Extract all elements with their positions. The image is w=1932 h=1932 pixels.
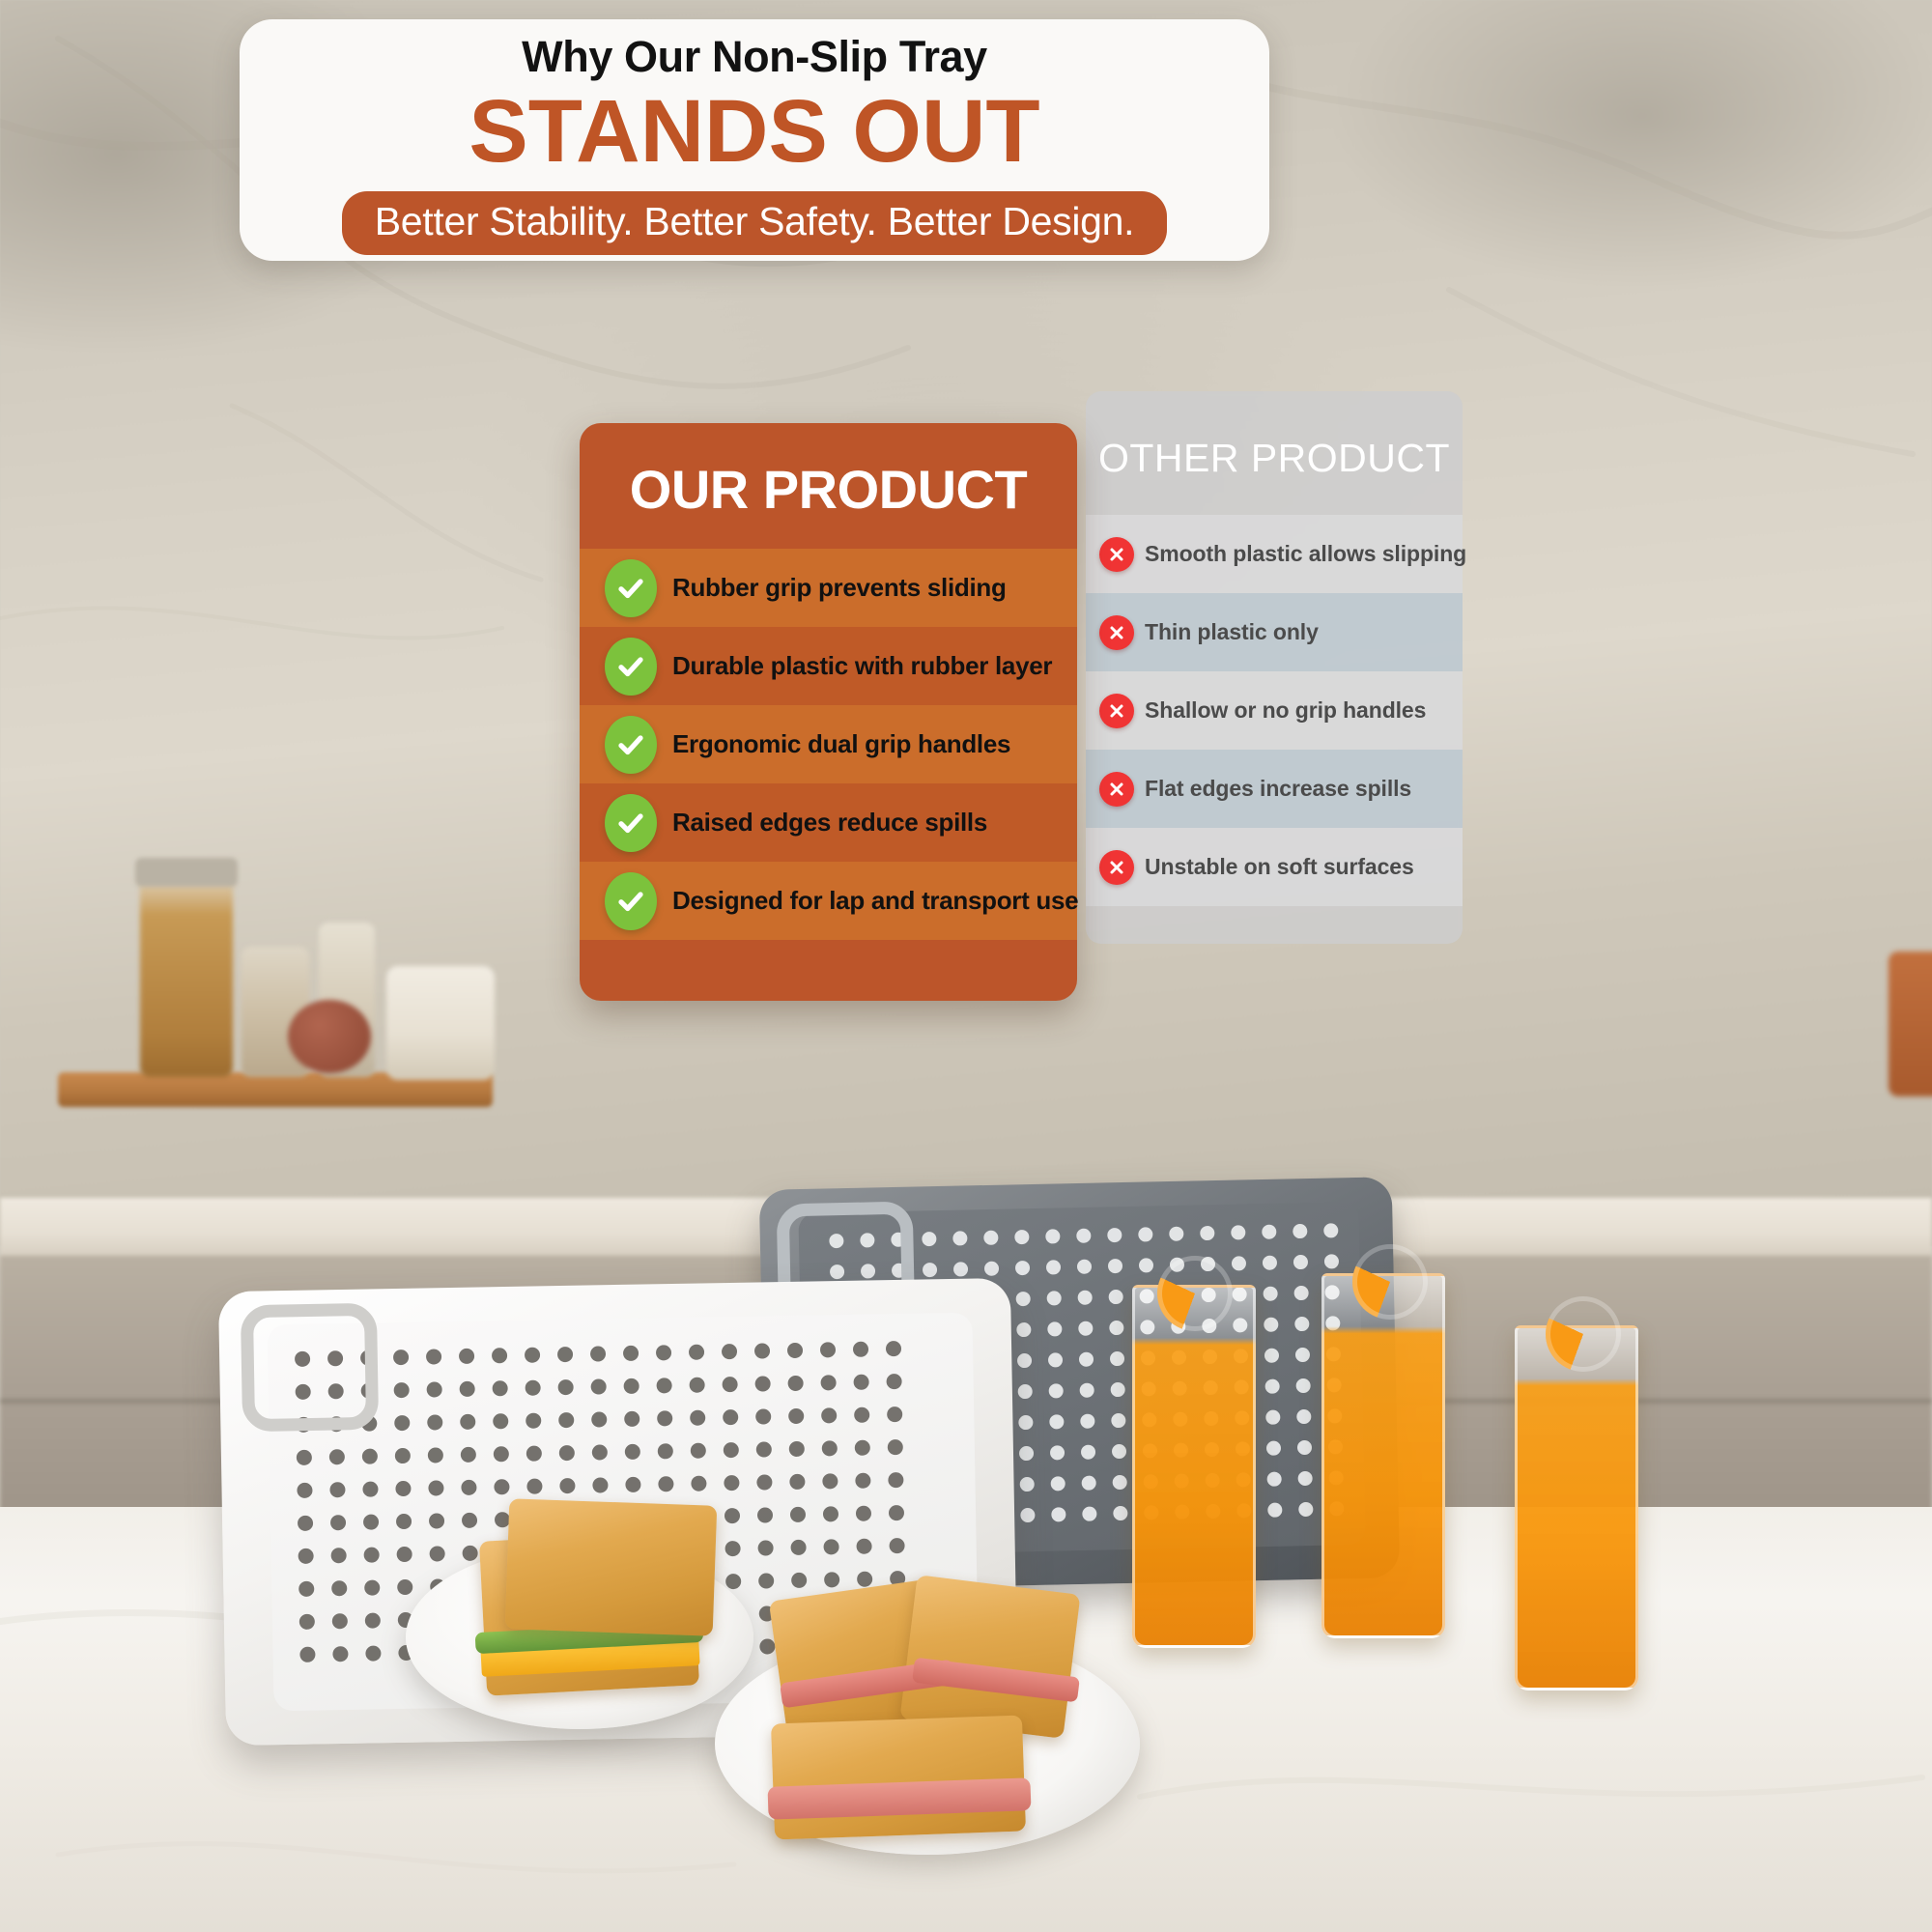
spice-jar [140,869,233,1077]
our-product-feature-row: Raised edges reduce spills [580,783,1077,862]
other-product-feature-label: Smooth plastic allows slipping [1145,541,1466,567]
our-product-feature-list: Rubber grip prevents slidingDurable plas… [580,549,1077,940]
orange-slice-garnish [1157,1256,1233,1331]
our-product-feature-row: Durable plastic with rubber layer [580,627,1077,705]
other-product-card: OTHER PRODUCT Smooth plastic allows slip… [1086,391,1463,944]
check-circle-icon [605,638,657,696]
x-circle-icon [1099,772,1134,807]
other-product-feature-row: Thin plastic only [1086,593,1463,671]
other-product-feature-label: Shallow or no grip handles [1145,697,1426,724]
other-product-feature-label: Flat edges increase spills [1145,776,1411,802]
orange-slice-garnish [1546,1296,1621,1372]
toast-sandwich [771,1715,1026,1839]
x-circle-icon [1099,537,1134,572]
orange-juice-glass [1132,1285,1256,1648]
orange-juice-glass [1515,1325,1638,1690]
other-product-feature-row: Smooth plastic allows slipping [1086,515,1463,593]
other-product-feature-row: Shallow or no grip handles [1086,671,1463,750]
spice-jar-lid [135,858,238,887]
other-product-feature-label: Unstable on soft surfaces [1145,854,1414,880]
our-product-feature-label: Ergonomic dual grip handles [672,729,1010,759]
decor-bowl [288,1000,371,1073]
counter-decor [1889,952,1932,1096]
x-circle-icon [1099,694,1134,728]
orange-juice-glass [1321,1273,1445,1638]
our-product-feature-row: Rubber grip prevents sliding [580,549,1077,627]
our-product-feature-row: Ergonomic dual grip handles [580,705,1077,783]
x-circle-icon [1099,850,1134,885]
club-sandwich-half [899,1575,1080,1739]
our-product-feature-label: Raised edges reduce spills [672,808,987,838]
other-product-title: OTHER PRODUCT [1086,436,1463,481]
header-kicker: Why Our Non-Slip Tray [522,33,987,81]
header-card: Why Our Non-Slip Tray STANDS OUT Better … [240,19,1269,261]
our-product-feature-label: Durable plastic with rubber layer [672,651,1052,681]
other-product-feature-label: Thin plastic only [1145,619,1319,645]
toast-sandwich [505,1498,718,1635]
our-product-card: OUR PRODUCT Rubber grip prevents sliding… [580,423,1077,1001]
canister [386,966,495,1080]
check-circle-icon [605,872,657,930]
our-product-feature-row: Designed for lap and transport use [580,862,1077,940]
orange-slice-garnish [1352,1244,1428,1320]
other-product-feature-row: Flat edges increase spills [1086,750,1463,828]
header-tagline-banner: Better Stability. Better Safety. Better … [342,191,1168,255]
check-circle-icon [605,559,657,617]
infographic-canvas: Why Our Non-Slip Tray STANDS OUT Better … [0,0,1932,1932]
our-product-feature-label: Designed for lap and transport use [672,886,1078,916]
other-product-feature-list: Smooth plastic allows slippingThin plast… [1086,515,1463,906]
our-product-title: OUR PRODUCT [580,458,1077,521]
x-circle-icon [1099,615,1134,650]
check-circle-icon [605,716,657,774]
our-product-feature-label: Rubber grip prevents sliding [672,573,1007,603]
white-tray-handle [241,1303,379,1432]
other-product-feature-row: Unstable on soft surfaces [1086,828,1463,906]
page-title: STANDS OUT [469,85,1039,180]
check-circle-icon [605,794,657,852]
